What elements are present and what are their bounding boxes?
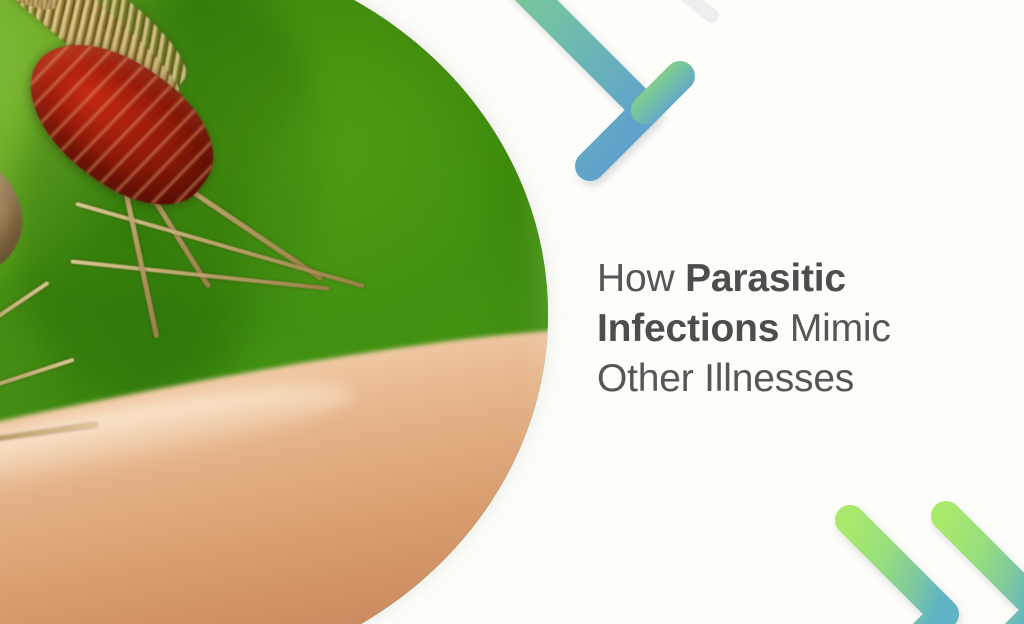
headline-text-bold-1: Parasitic bbox=[685, 257, 846, 300]
headline-text-normal-3: Other Illnesses bbox=[597, 357, 854, 400]
top-edge-chevron-hint bbox=[672, 0, 742, 26]
chevron-stroke bbox=[850, 520, 944, 624]
chevron-stroke bbox=[946, 516, 1024, 624]
headline: How Parasitic Infections Mimic Other Ill… bbox=[597, 254, 997, 404]
banner-root: How Parasitic Infections Mimic Other Ill… bbox=[0, 0, 1024, 624]
chevron-stroke bbox=[450, 0, 646, 166]
top-right-chevron-decoration bbox=[430, 0, 750, 204]
chevron-stroke bbox=[682, 0, 712, 16]
bottom-right-chevron-decoration bbox=[828, 478, 1024, 624]
headline-text-normal-2: Mimic bbox=[779, 307, 890, 350]
headline-text-bold-2: Infections bbox=[597, 307, 779, 350]
headline-text-normal-1: How bbox=[597, 257, 685, 300]
chevron-stroke bbox=[646, 76, 680, 110]
